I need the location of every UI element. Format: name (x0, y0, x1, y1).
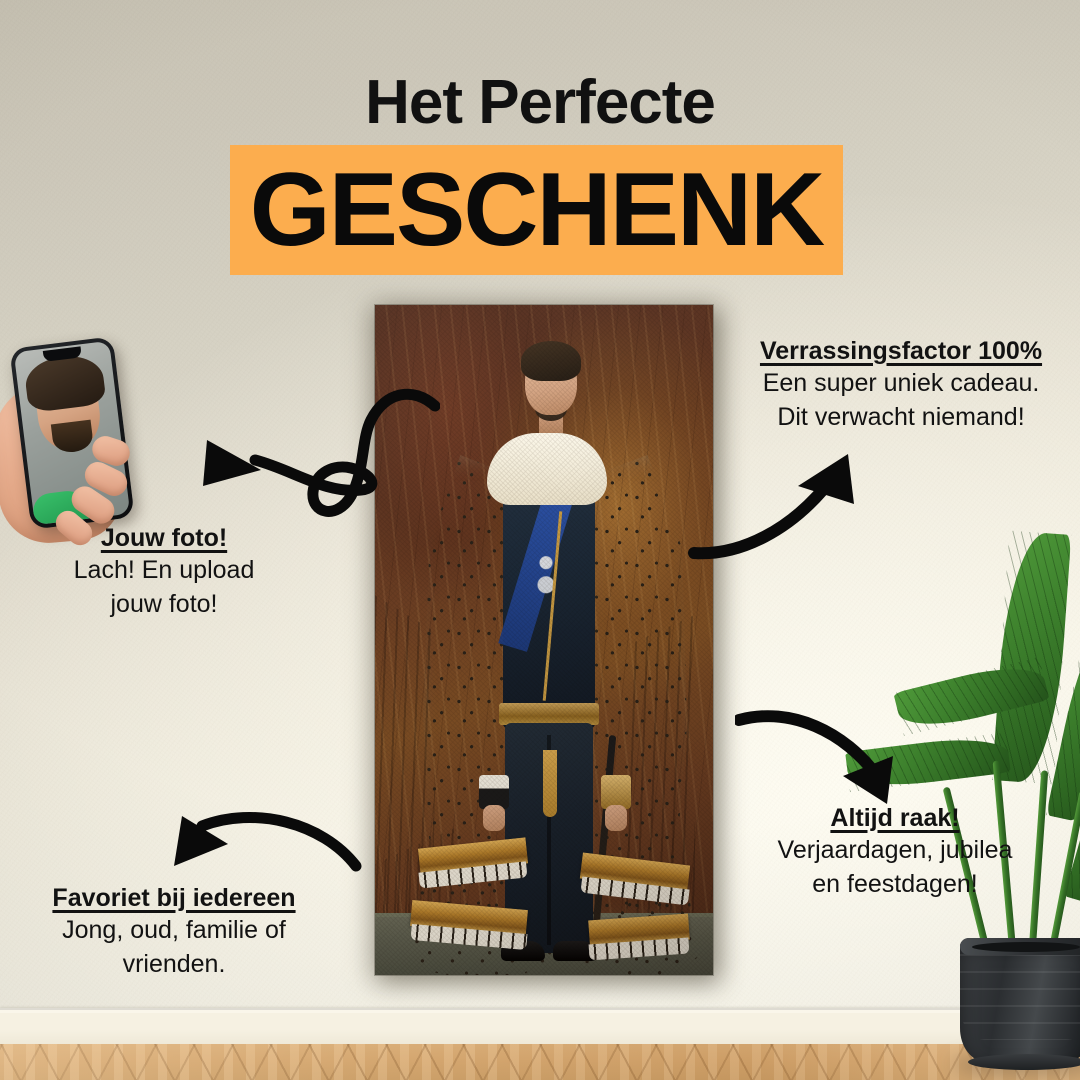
callout-altijd-raak: Altijd raak! Verjaardagen, jubilea en fe… (750, 802, 1040, 901)
callout-line: Verjaardagen, jubilea (750, 834, 1040, 868)
arrow-to-always-icon (735, 698, 935, 813)
pot-saucer (968, 1054, 1080, 1070)
callout-line: Lach! En upload (24, 554, 304, 588)
pot-ribbing (960, 954, 1080, 1040)
headline-line1: Het Perfecte (0, 72, 1080, 134)
callout-line: vrienden. (24, 948, 324, 982)
selfie-beard (51, 420, 94, 455)
arrow-to-favorite-icon (158, 798, 363, 893)
callout-line: jouw foto! (24, 588, 304, 622)
callout-line: Jong, oud, familie of (24, 914, 324, 948)
pot-inner-shadow (972, 942, 1080, 952)
arrow-to-surprise-icon (688, 438, 883, 583)
plant-pot (960, 938, 1080, 1062)
callout-jouw-foto: Jouw foto! Lach! En upload jouw foto! (24, 522, 304, 621)
callout-title: Altijd raak! (750, 802, 1040, 834)
poster-canvas: Het Perfecte GESCHENK (0, 0, 1080, 1080)
headline-line2: GESCHENK (230, 145, 843, 275)
callout-favoriet: Favoriet bij iedereen Jong, oud, familie… (24, 882, 324, 981)
callout-line: Een super uniek cadeau. (736, 367, 1066, 401)
callout-line: Dit verwacht niemand! (736, 401, 1066, 435)
callout-line: en feestdagen! (750, 868, 1040, 902)
arrow-to-photo-icon (185, 378, 440, 523)
callout-title: Favoriet bij iedereen (24, 882, 324, 914)
callout-verrassingsfactor: Verrassingsfactor 100% Een super uniek c… (736, 335, 1066, 434)
callout-title: Verrassingsfactor 100% (736, 335, 1066, 367)
callout-title: Jouw foto! (24, 522, 304, 554)
